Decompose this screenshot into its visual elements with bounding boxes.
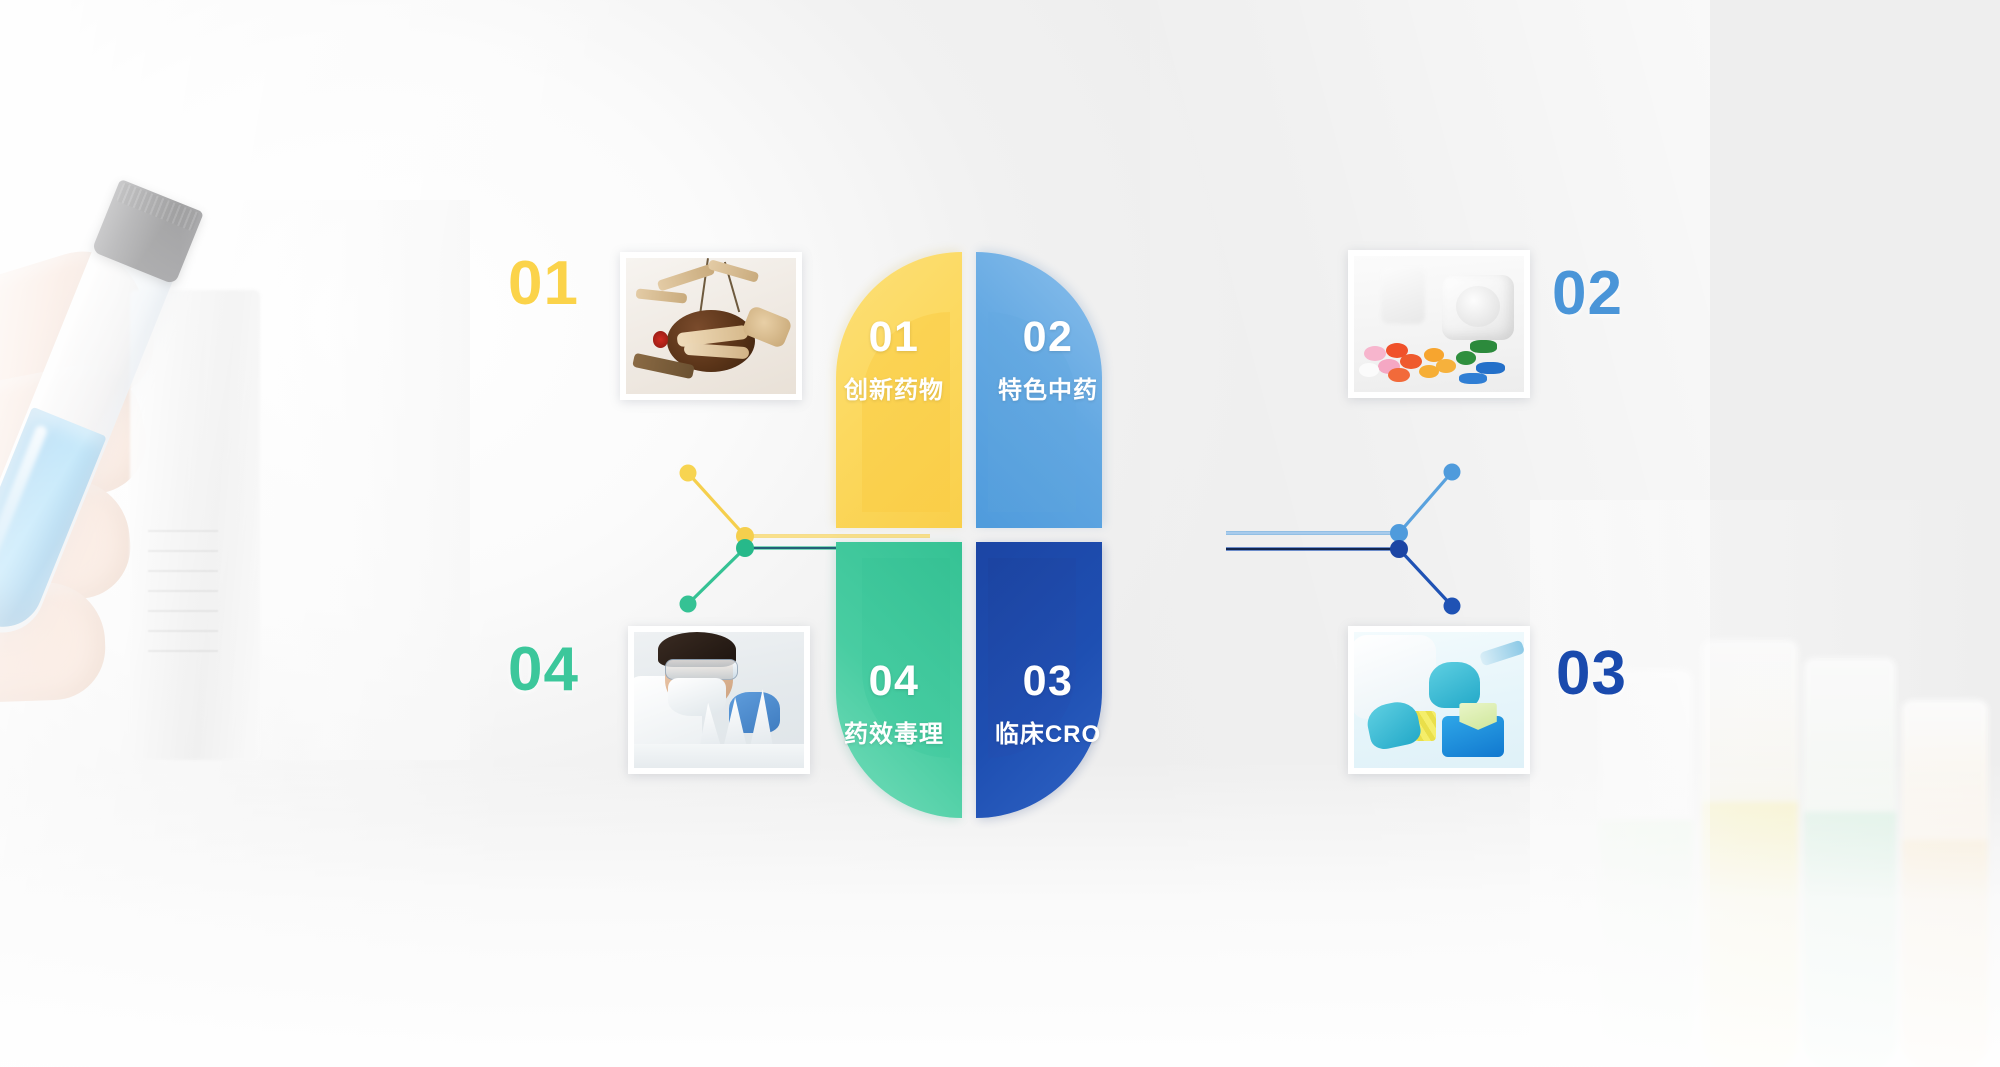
side-number-04: 04 xyxy=(508,634,579,705)
pills-thumbnail[interactable] xyxy=(1348,250,1530,398)
background-bottle xyxy=(1381,267,1425,324)
gloved-hand-right xyxy=(1429,662,1480,708)
wheel-segment-03[interactable]: 03 临床CRO xyxy=(976,542,1102,818)
quadrant-wheel: 01 创新药物 02 特色中药 03 临床CRO 04 药效毒理 xyxy=(836,252,1102,818)
segment-number: 04 xyxy=(822,660,966,703)
connector-light-blue xyxy=(1226,464,1461,543)
segment-number: 01 xyxy=(822,316,966,359)
side-number-01: 01 xyxy=(508,248,579,319)
left-photo-fade xyxy=(180,200,470,760)
segment-title: 药效毒理 xyxy=(822,714,966,749)
side-number-03: 03 xyxy=(1556,638,1627,709)
herbs-thumbnail[interactable] xyxy=(620,252,802,400)
segment-title: 临床CRO xyxy=(980,714,1116,749)
segment-label-group: 03 临床CRO xyxy=(980,660,1116,749)
lab-bench xyxy=(634,744,804,768)
wheel-segment-04[interactable]: 04 药效毒理 xyxy=(836,542,962,818)
safety-goggles-icon xyxy=(665,659,738,680)
connector-dark-blue xyxy=(1226,540,1461,615)
herbs-image xyxy=(626,258,796,394)
pipette-icon xyxy=(1479,639,1524,666)
bottle-cap xyxy=(1456,286,1500,327)
lab-gloves-thumbnail[interactable] xyxy=(1348,626,1530,774)
wheel-segment-01[interactable]: 01 创新药物 xyxy=(836,252,962,528)
segment-title: 特色中药 xyxy=(980,370,1116,405)
background-photo-hand-test-tube xyxy=(0,200,450,760)
wheel-segment-02[interactable]: 02 特色中药 xyxy=(976,252,1102,528)
infographic-stage: 01 创新药物 02 特色中药 03 临床CRO 04 药效毒理 xyxy=(0,0,2000,1067)
segment-number: 03 xyxy=(980,660,1116,703)
segment-label-group: 02 特色中药 xyxy=(980,316,1116,405)
segment-label-group: 04 药效毒理 xyxy=(822,660,966,749)
right-photo-fade xyxy=(1530,500,2000,1067)
face-mask-icon xyxy=(668,678,726,716)
segment-title: 创新药物 xyxy=(822,370,966,405)
lab-gloves-image xyxy=(1354,632,1524,768)
pills-image xyxy=(1354,256,1524,392)
segment-label-group: 01 创新药物 xyxy=(822,316,966,405)
segment-number: 02 xyxy=(980,316,1116,359)
scientist-image xyxy=(634,632,804,768)
side-number-02: 02 xyxy=(1552,258,1623,329)
scientist-thumbnail[interactable] xyxy=(628,626,810,774)
